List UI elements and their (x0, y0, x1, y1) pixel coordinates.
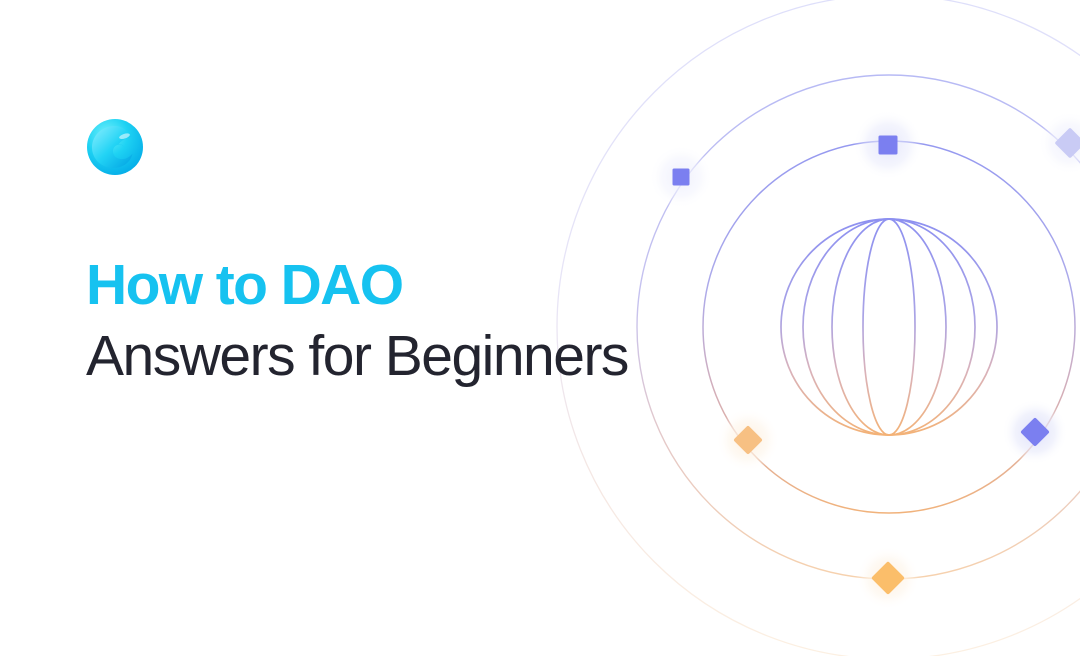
poster-content: How to DAO Answers for Beginners (0, 0, 1080, 656)
brand-logo[interactable] (86, 118, 144, 176)
poster-canvas: How to DAO Answers for Beginners (0, 0, 1080, 656)
wave-bird-logo-icon (86, 118, 144, 176)
page-subtitle: Answers for Beginners (86, 319, 786, 393)
headline-block: How to DAO Answers for Beginners (86, 252, 786, 393)
page-title: How to DAO (86, 252, 786, 319)
